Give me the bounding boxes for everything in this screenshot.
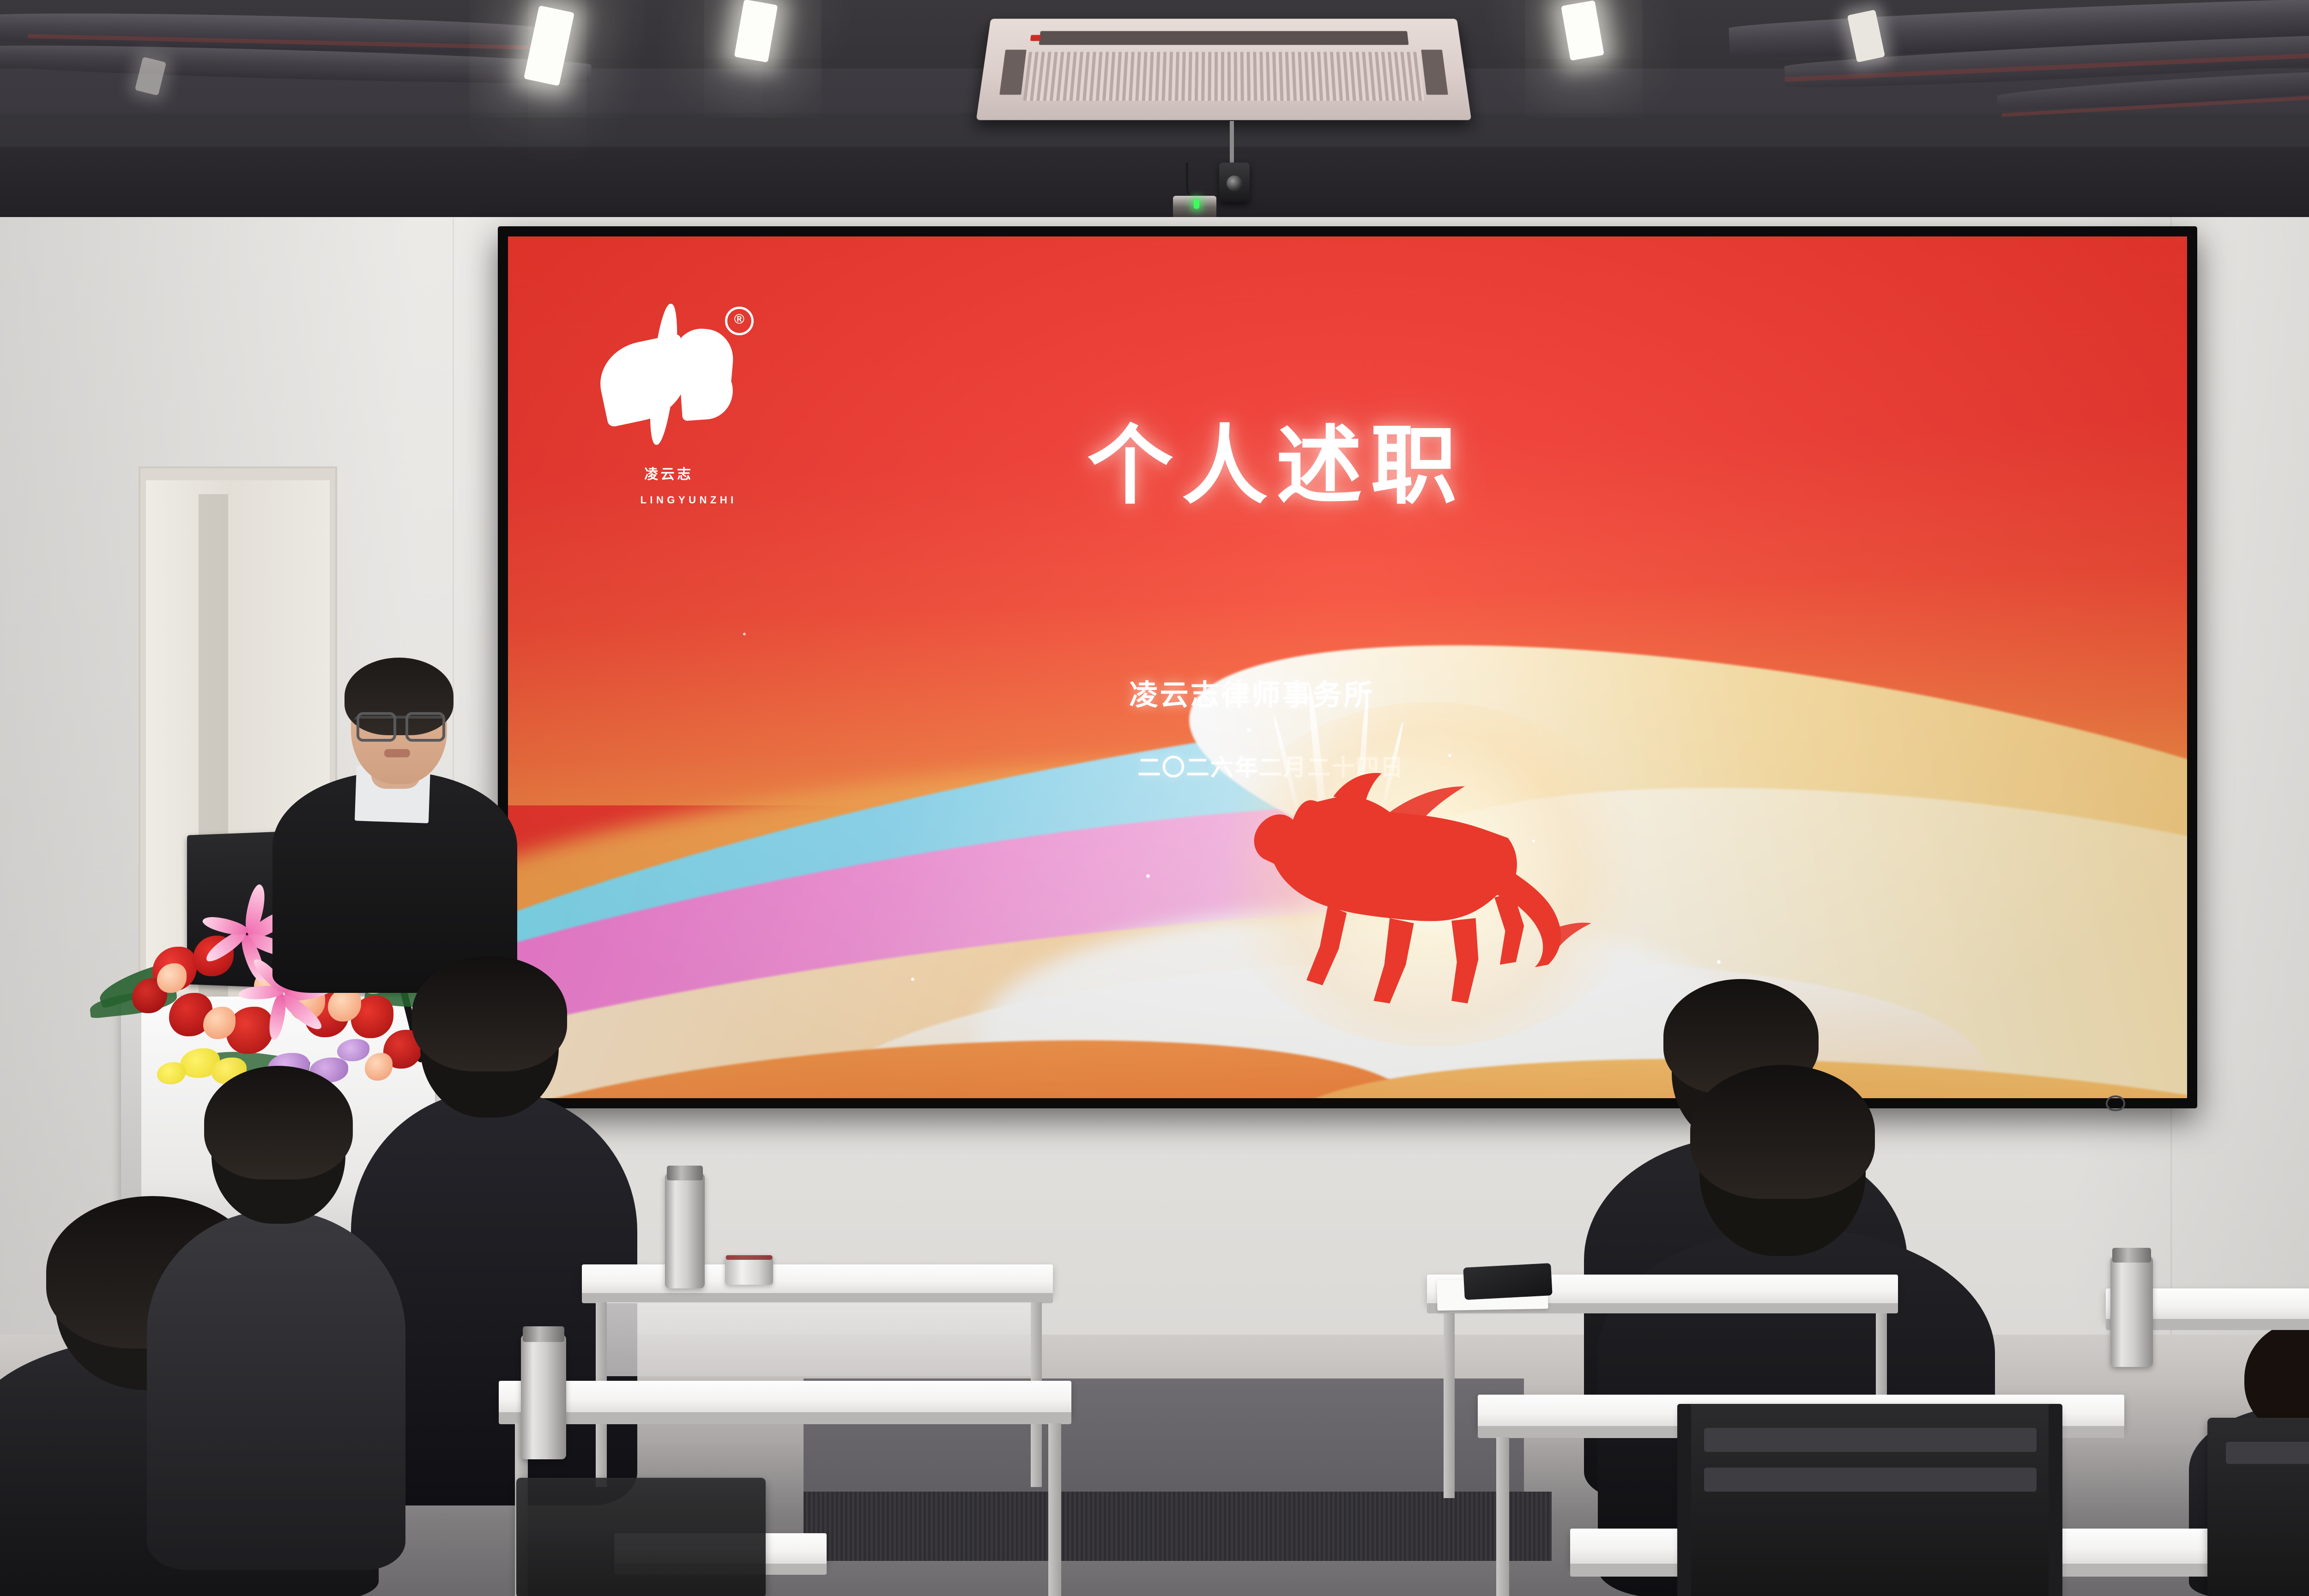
camera-mount-rod bbox=[1230, 121, 1234, 165]
glasses-lens-left bbox=[357, 712, 396, 742]
ac-side-vent bbox=[1421, 50, 1448, 95]
desk-leg bbox=[1496, 1437, 1509, 1596]
tablet-device[interactable] bbox=[1463, 1263, 1552, 1300]
thermos-cap[interactable] bbox=[667, 1166, 703, 1180]
ac-indicator-light bbox=[1030, 35, 1040, 41]
logo-latin-text: LINGYUNZHI bbox=[641, 494, 737, 506]
firm-logo: ® 凌云志 LINGYUNZHI bbox=[592, 297, 793, 521]
sparkle bbox=[1448, 754, 1451, 757]
audience-hair bbox=[412, 956, 567, 1071]
desk-leg bbox=[1444, 1313, 1455, 1498]
desk-edge bbox=[582, 1293, 1053, 1303]
sparkle bbox=[1146, 874, 1150, 878]
logo-chinese-text: 凌云志 bbox=[644, 463, 693, 483]
ac-vent-slot bbox=[1039, 31, 1408, 45]
desk-modesty-panel bbox=[596, 1302, 1039, 1376]
cup-rim bbox=[726, 1255, 772, 1260]
display-brand-logo-icon bbox=[2106, 1095, 2125, 1111]
thermos-flask[interactable] bbox=[521, 1335, 566, 1459]
audience-member bbox=[147, 1058, 405, 1566]
logo-mark-icon: ® bbox=[592, 297, 793, 458]
ac-side-vent bbox=[999, 50, 1027, 95]
desk-edge bbox=[499, 1412, 1071, 1424]
camera-lens-icon bbox=[1227, 175, 1242, 191]
chair-slat bbox=[1704, 1468, 2037, 1492]
ac-grille bbox=[1023, 52, 1425, 101]
audience-hair bbox=[1690, 1065, 1875, 1199]
audience-jacket bbox=[147, 1210, 405, 1570]
audience-chair[interactable] bbox=[516, 1478, 766, 1596]
sparkle bbox=[1247, 728, 1251, 732]
presenter bbox=[259, 642, 536, 993]
thermos-flask[interactable] bbox=[665, 1173, 705, 1288]
thermos-cap[interactable] bbox=[523, 1326, 564, 1342]
chair-frame bbox=[2049, 1404, 2062, 1596]
presenter-mouth bbox=[384, 749, 410, 757]
glasses-lens-right bbox=[405, 712, 445, 742]
sparkle bbox=[911, 978, 914, 981]
thermos-flask[interactable] bbox=[2110, 1256, 2153, 1367]
ceiling-ac-unit bbox=[976, 19, 1472, 120]
presentation-slide: ® 凌云志 LINGYUNZHI 个人述职 凌云志律师事务所 二〇二六年二月二十… bbox=[508, 236, 2187, 1098]
chair-frame bbox=[1677, 1404, 1691, 1596]
galloping-horse-icon bbox=[1188, 758, 1591, 1016]
desk-leg bbox=[1048, 1423, 1061, 1596]
conference-room-photo: ® 凌云志 LINGYUNZHI 个人述职 凌云志律师事务所 二〇二六年二月二十… bbox=[0, 0, 2309, 1596]
chair-slat bbox=[1704, 1428, 2037, 1452]
slide-organization: 凌云志律师事务所 bbox=[1129, 671, 1374, 713]
speaker-status-led bbox=[1194, 199, 1199, 209]
chair-slat bbox=[2226, 1442, 2309, 1464]
audience-hair bbox=[204, 1066, 353, 1179]
audience-desk bbox=[499, 1381, 1071, 1415]
audience-desk bbox=[582, 1264, 1053, 1295]
slide-title: 个人述职 bbox=[1087, 396, 1465, 520]
thermos-cap[interactable] bbox=[2112, 1248, 2151, 1263]
registered-trademark-icon: ® bbox=[725, 307, 754, 335]
carpet-runner bbox=[804, 1492, 1552, 1561]
